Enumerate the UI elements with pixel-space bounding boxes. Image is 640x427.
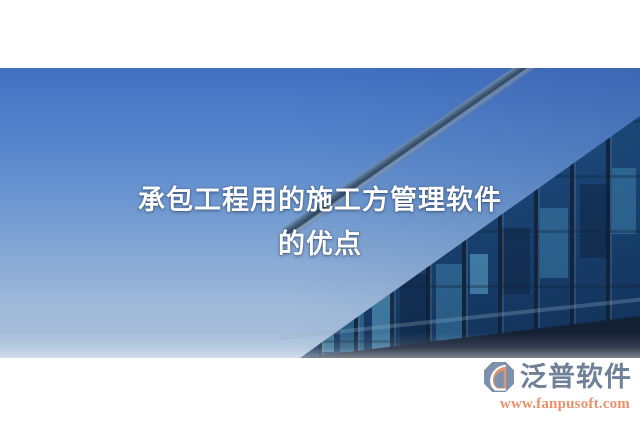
brand-logo: 泛普软件 www.fanpusoft.com xyxy=(482,360,632,413)
brand-logo-row: 泛普软件 xyxy=(482,360,632,394)
page-title-line-2: 的优点 xyxy=(0,222,640,266)
page-title: 承包工程用的施工方管理软件 的优点 xyxy=(0,178,640,266)
brand-url: www.fanpusoft.com xyxy=(500,396,630,413)
brand-name: 泛普软件 xyxy=(520,364,632,391)
page-title-line-1: 承包工程用的施工方管理软件 xyxy=(138,185,502,215)
photo-bottom-fade xyxy=(0,332,640,358)
fanpu-octagon-logo-icon xyxy=(482,360,516,394)
promo-banner: 承包工程用的施工方管理软件 的优点 泛普软件 www.fanpusoft.com xyxy=(0,0,640,427)
